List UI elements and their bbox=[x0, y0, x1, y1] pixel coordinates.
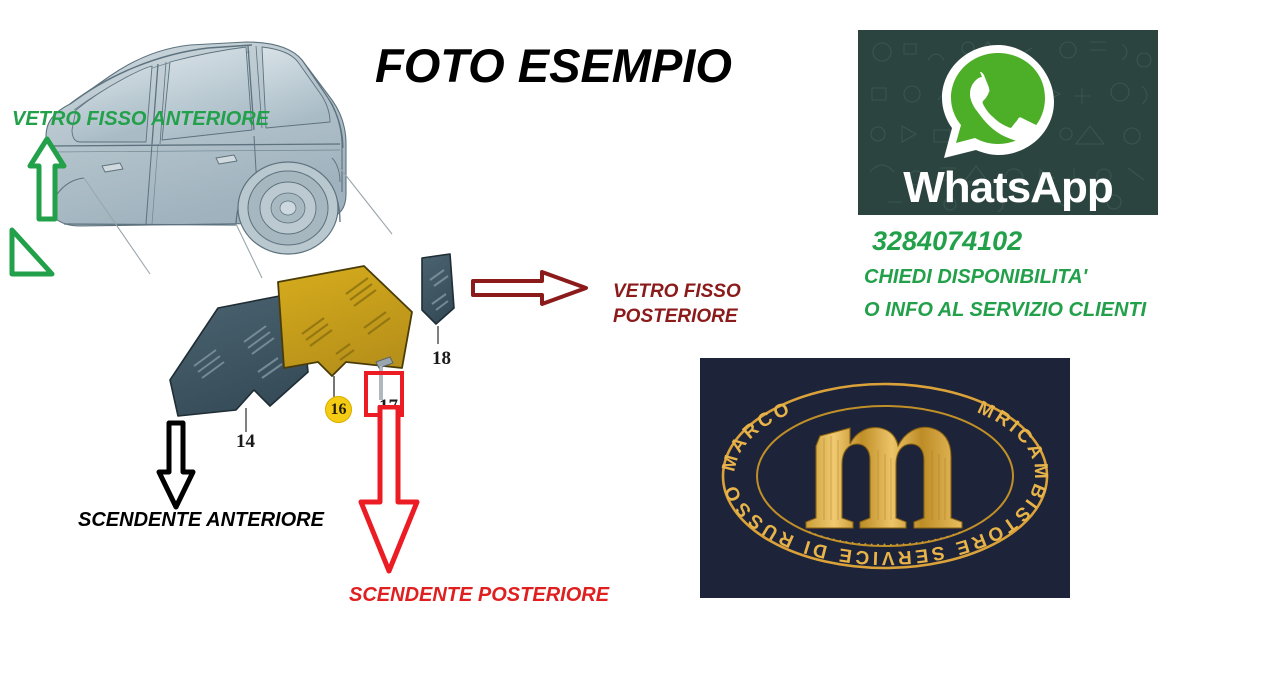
arrow-up-green-icon bbox=[27, 136, 67, 222]
contact-line-2: O INFO AL SERVIZIO CLIENTI bbox=[864, 299, 1146, 322]
phone-number[interactable]: 3284074102 bbox=[872, 226, 1022, 257]
arrow-right-darkred-icon bbox=[470, 268, 590, 308]
whatsapp-wordmark: WhatsApp bbox=[858, 163, 1158, 213]
label-front-drop-glass: SCENDENTE ANTERIORE bbox=[78, 509, 324, 532]
label-rear-fixed-glass: VETRO FISSO POSTERIORE bbox=[613, 280, 741, 329]
poster-canvas: 14 17 18 16 VETRO FISSO ANTERIORE VETRO … bbox=[0, 0, 1264, 678]
arrow-down-red-icon bbox=[358, 405, 420, 575]
exploded-parts-group bbox=[150, 250, 470, 450]
part-18-shape bbox=[422, 254, 454, 344]
car-illustration bbox=[40, 18, 420, 288]
triangle-green-icon bbox=[8, 226, 56, 278]
label-front-fixed-glass: VETRO FISSO ANTERIORE bbox=[12, 108, 269, 131]
arrow-down-black-icon bbox=[156, 420, 196, 510]
label-rear-drop-glass: SCENDENTE POSTERIORE bbox=[349, 584, 609, 607]
part-number-badge-16: 16 bbox=[325, 396, 352, 423]
shop-logo-graphic: MRICAMBISTORE SERVICE DI RUSSO MARCO • •… bbox=[700, 358, 1070, 598]
shop-logo: MRICAMBISTORE SERVICE DI RUSSO MARCO • •… bbox=[700, 358, 1070, 598]
contact-line-1: CHIEDI DISPONIBILITA' bbox=[864, 266, 1087, 289]
part-number-18: 18 bbox=[432, 348, 451, 370]
whatsapp-phone-icon bbox=[932, 40, 1064, 165]
page-title: FOTO ESEMPIO bbox=[375, 38, 795, 93]
part-number-14: 14 bbox=[236, 431, 255, 453]
whatsapp-banner: WhatsApp bbox=[858, 30, 1158, 215]
